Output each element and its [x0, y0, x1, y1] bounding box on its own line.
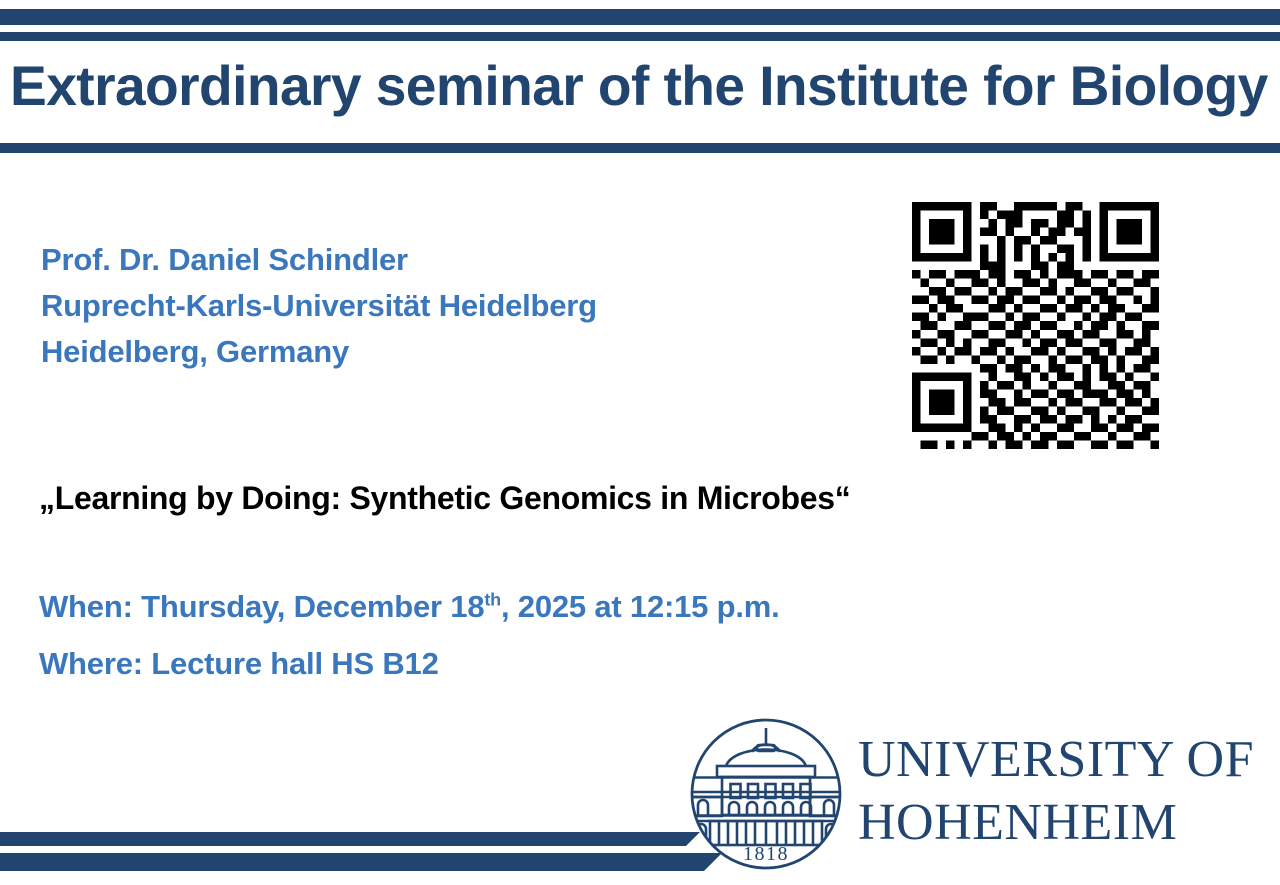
where-label: Where:: [39, 646, 143, 681]
page-title: Extraordinary seminar of the Institute f…: [10, 52, 1261, 120]
logo-line-1: UNIVERSITY OF: [858, 728, 1254, 791]
university-logo: 1818 UNIVERSITY OF HOHENHEIM: [686, 714, 1266, 874]
where-value: Lecture hall HS B12: [143, 646, 439, 681]
logo-line-2: HOHENHEIM: [858, 791, 1254, 854]
speaker-institution: Ruprecht-Karls-Universität Heidelberg: [41, 283, 597, 329]
event-details: When: Thursday, December 18th, 2025 at 1…: [39, 578, 780, 692]
when-label: When:: [39, 589, 133, 624]
event-where: Where: Lecture hall HS B12: [39, 635, 780, 692]
qr-code-svg: [912, 202, 1159, 449]
logo-wordmark: UNIVERSITY OF HOHENHEIM: [858, 728, 1254, 854]
seal-year-text: 1818: [743, 843, 789, 865]
when-ordinal-suffix: th: [484, 590, 501, 610]
event-when: When: Thursday, December 18th, 2025 at 1…: [39, 578, 780, 635]
top-rule-thin: [0, 32, 1280, 41]
bottom-rule-thick: [0, 853, 722, 871]
top-rule-thick: [0, 9, 1280, 25]
speaker-block: Prof. Dr. Daniel Schindler Ruprecht-Karl…: [41, 237, 597, 375]
hohenheim-seal-icon: 1818: [686, 714, 846, 874]
speaker-location: Heidelberg, Germany: [41, 329, 597, 375]
seal-svg: 1818: [686, 714, 846, 874]
when-value-pre: Thursday, December 18: [133, 589, 485, 624]
speaker-name: Prof. Dr. Daniel Schindler: [41, 237, 597, 283]
when-value-post: , 2025 at 12:15 p.m.: [501, 589, 780, 624]
talk-title: „Learning by Doing: Synthetic Genomics i…: [39, 477, 850, 519]
bottom-rule-thin: [0, 832, 700, 846]
seminar-poster: Extraordinary seminar of the Institute f…: [0, 0, 1280, 885]
title-underline-rule: [0, 143, 1280, 153]
qr-code[interactable]: [912, 202, 1159, 449]
